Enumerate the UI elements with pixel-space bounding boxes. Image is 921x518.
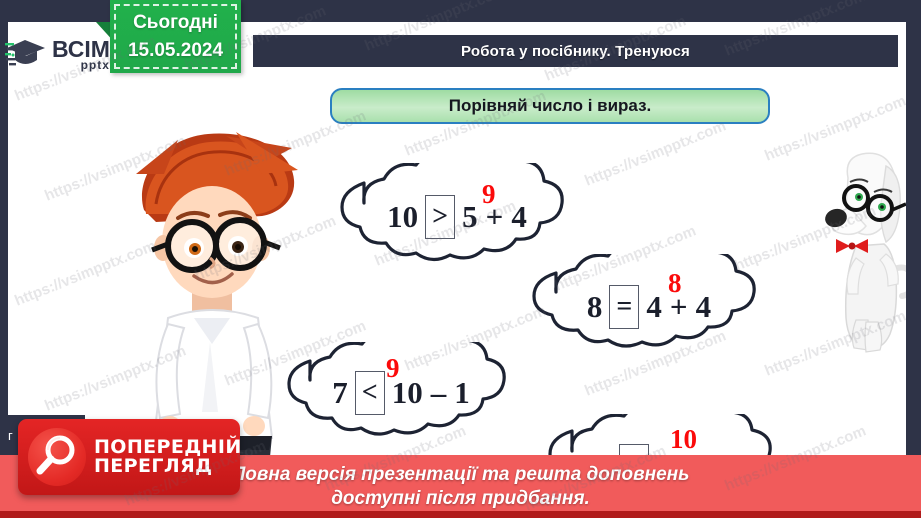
task-4-answer: 10 [670,426,697,453]
preview-badge-line2: ПЕРЕГЛЯД [94,457,242,476]
task-1-left: 10 [384,199,421,235]
date-tab-label: Сьогодні [133,9,218,37]
task-1-right-b: 4 [508,199,530,235]
task-1-sign[interactable]: > [425,195,455,239]
instruction-text: Порівняй число і вираз. [449,96,652,116]
brand-logo[interactable]: ВСІМ pptx [5,30,125,78]
task-2-left: 8 [584,289,606,325]
task-2-sign[interactable]: = [609,285,639,329]
preview-badge[interactable]: ПОПЕРЕДНІЙ ПЕРЕГЛЯД [18,419,240,495]
task-3-operator: – [426,375,452,411]
graduation-cap-icon [5,36,47,72]
purchase-notice-line2: доступні після придбання. [331,487,590,510]
task-1-right-a: 5 [459,199,481,235]
dog-character [820,150,906,356]
task-3-answer: 9 [386,355,400,382]
footer-text: г [8,428,13,443]
task-cloud-2: 8 = 4 + 4 8 [516,254,782,362]
task-3-right-b: 1 [451,375,473,411]
task-expression-3: 7 < 10 – 1 [270,342,532,448]
task-3-left: 7 [329,375,351,411]
bottom-accent-strip [0,511,921,518]
purchase-notice-line1: Повна версія презентації та решта доповн… [232,463,690,486]
instruction-banner: Порівняй число і вираз. [330,88,770,124]
task-1-answer: 9 [482,181,496,208]
task-expression-2: 8 = 4 + 4 [516,254,782,362]
date-tab: Сьогодні 15.05.2024 [110,0,241,73]
date-tab-date: 15.05.2024 [128,37,223,65]
slide-title: Робота у посібнику. Тренуюся [461,43,690,60]
task-2-right-b: 4 [693,289,715,325]
task-cloud-3: 7 < 10 – 1 9 [270,342,532,448]
presentation-slide: 10 > 5 + 4 9 8 = 4 + 4 8 [0,0,921,518]
task-2-answer: 8 [668,270,682,297]
magnifier-icon [28,428,86,486]
slide-header-bar: Робота у посібнику. Тренуюся [253,35,898,67]
task-3-sign[interactable]: < [355,371,385,415]
task-2-right-a: 4 [643,289,665,325]
